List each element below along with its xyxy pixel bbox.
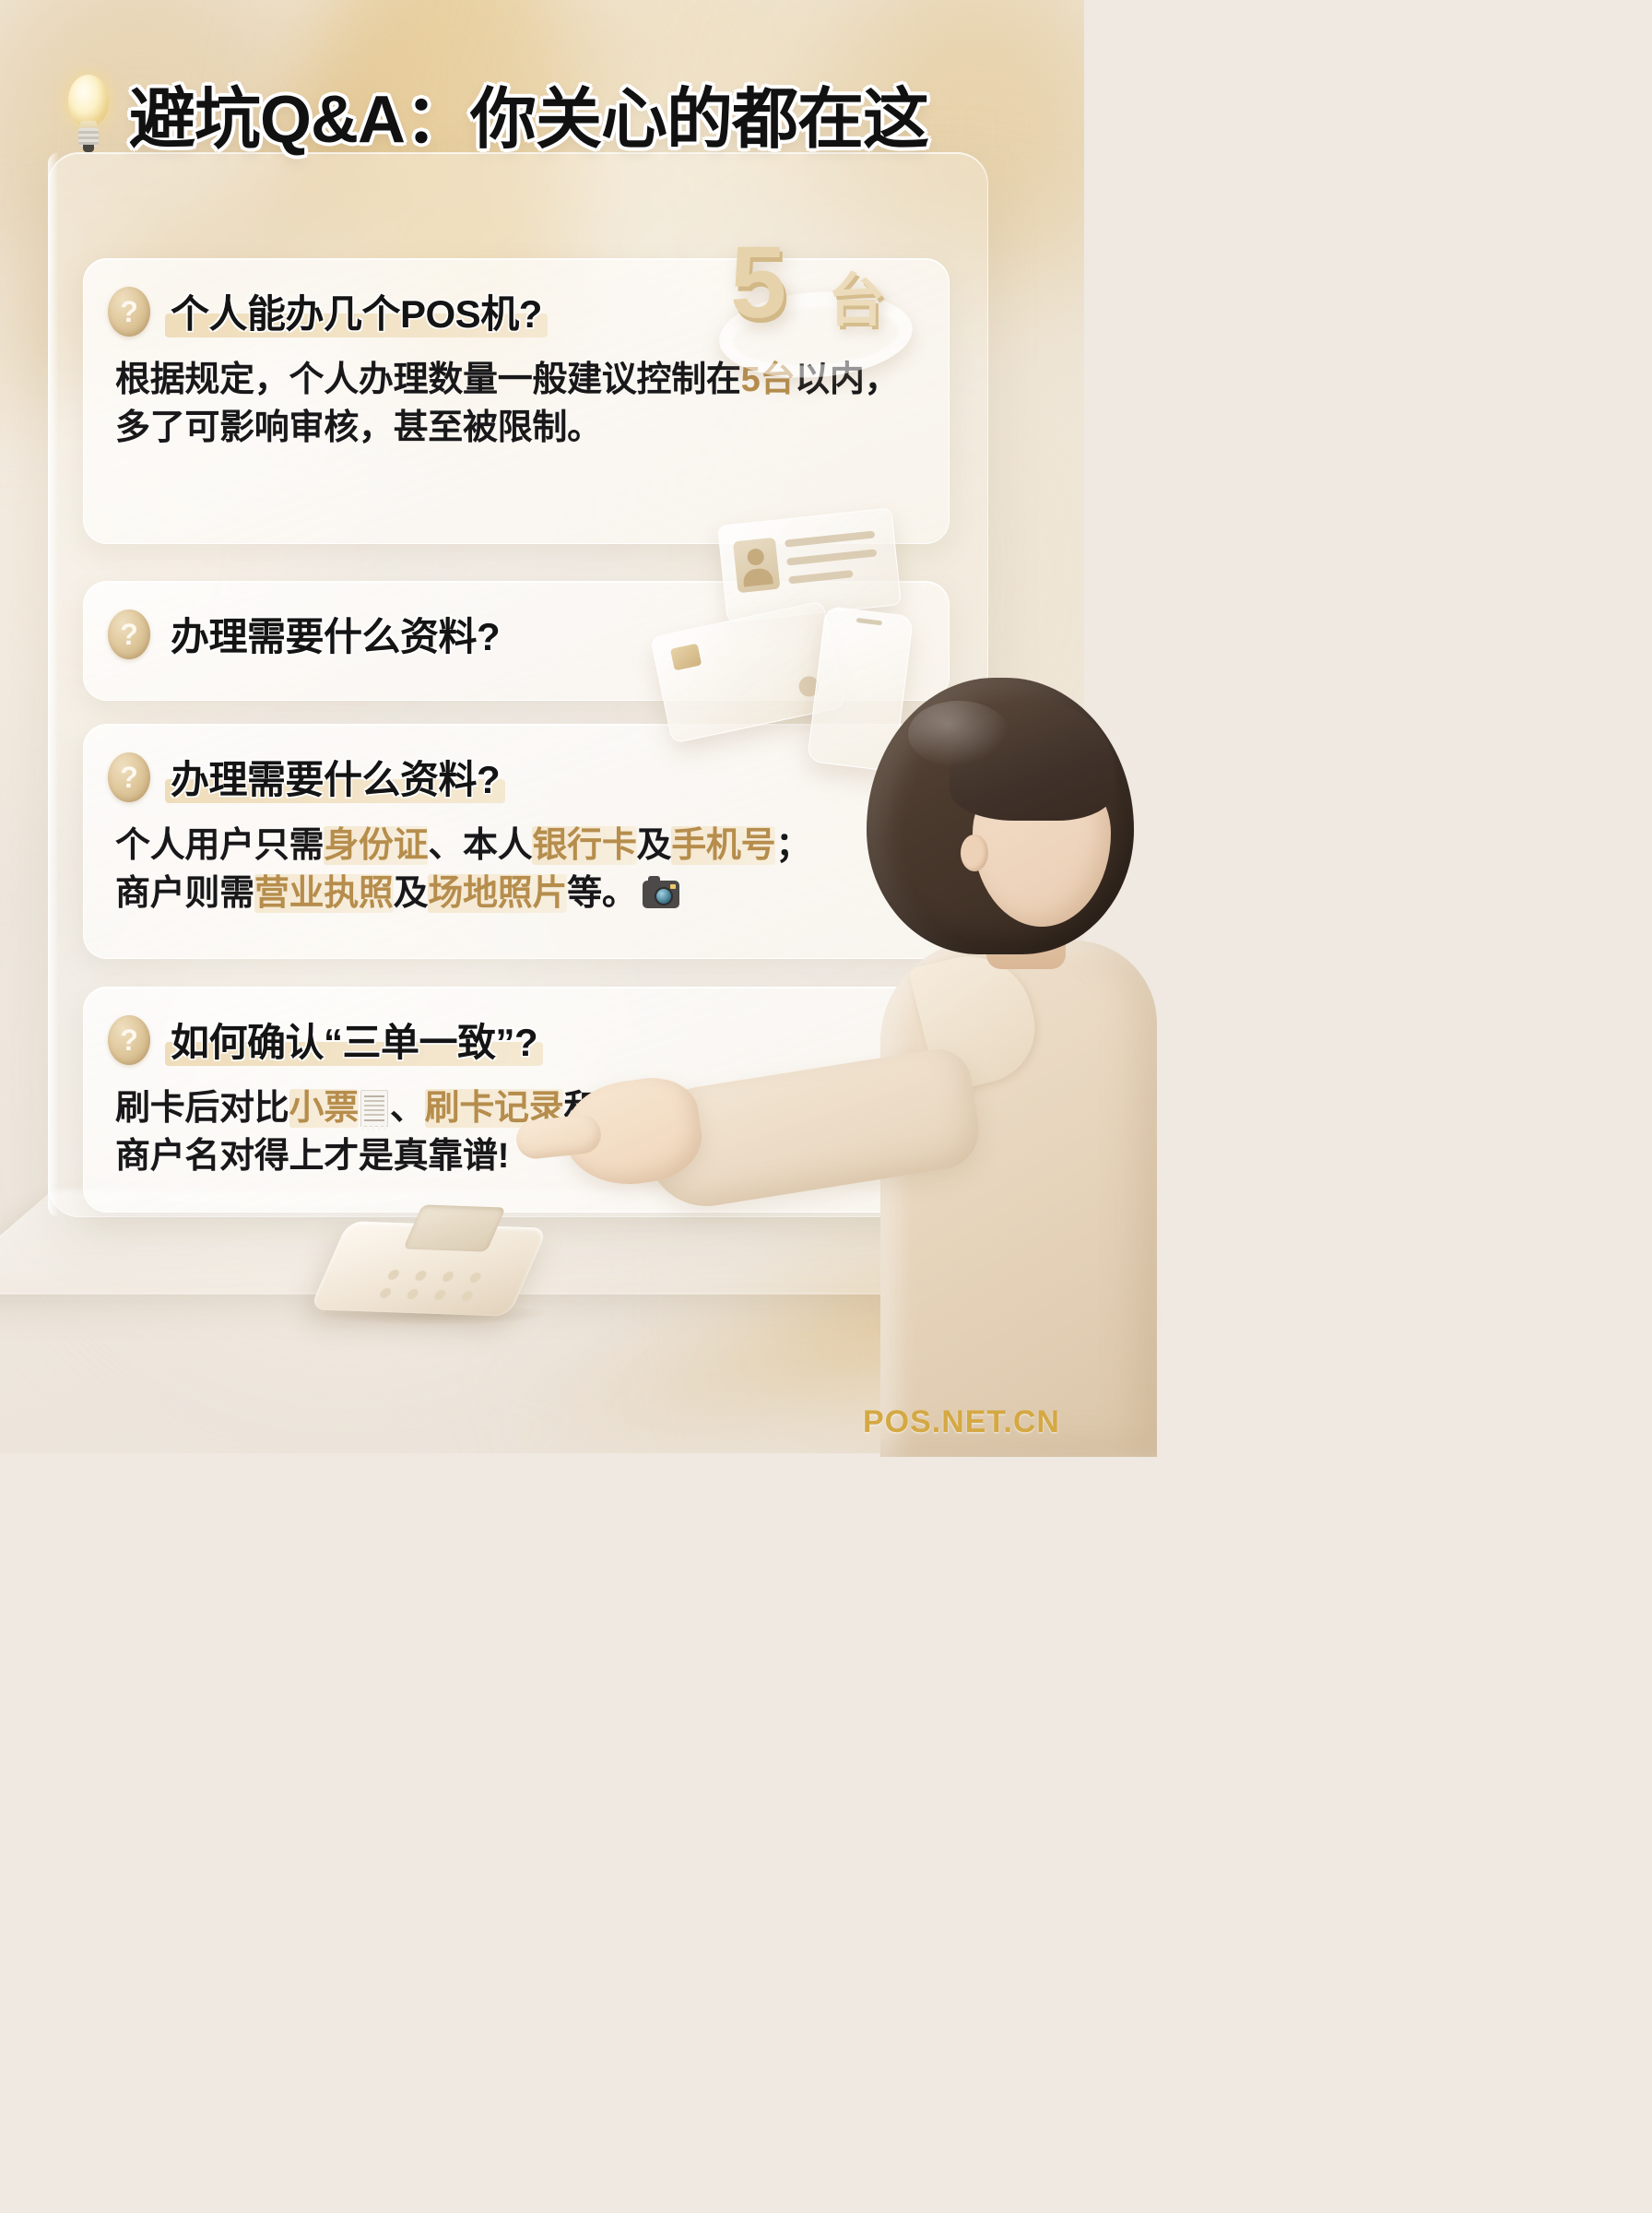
qa-card[interactable]: ? 办理需要什么资料? <box>83 581 950 701</box>
answer-segment: 等。 <box>567 874 636 913</box>
answer-text: 刷卡后对比小票、刷卡记录和银行流水，商户名对得上才是真靠谱! <box>115 1084 921 1181</box>
answer-highlight: 身份证 <box>324 826 428 865</box>
answer-segment: 商户则需 <box>115 874 254 913</box>
answer-segment: 及 <box>394 874 429 913</box>
answer-text: 个人用户只需身份证、本人银行卡及手机号；商户则需营业执照及场地照片等。 <box>115 822 921 918</box>
answer-segment: 商户名对得上才是真靠谱! <box>115 1137 509 1176</box>
question-text: 办理需要什么资料? <box>165 606 505 662</box>
answer-segment: 刷卡后对比 <box>115 1089 289 1128</box>
answer-segment: 根据规定，个人办理数量一般建议控制在 <box>115 361 741 399</box>
answer-segment: 和 <box>563 1089 598 1128</box>
question-text: 办理需要什么资料? <box>165 749 505 805</box>
answer-highlight: 营业执照 <box>254 874 394 913</box>
answer-highlight: 小票 <box>289 1089 359 1128</box>
glass-panel-left-edge <box>48 152 59 1217</box>
qa-card[interactable]: ? 个人能办几个POS机? 根据规定，个人办理数量一般建议控制在5台以内，多了可… <box>83 258 950 544</box>
answer-highlight: 5台 <box>741 361 796 399</box>
answer-highlight: 刷卡记录 <box>425 1089 564 1128</box>
question-row: ? 如何确认“三单一致”? <box>108 1012 921 1068</box>
lightbulb-icon <box>63 75 114 152</box>
question-row: ? 办理需要什么资料? <box>108 749 921 805</box>
receipt-icon <box>360 1090 388 1127</box>
question-text: 如何确认“三单一致”? <box>165 1012 543 1068</box>
question-row: ? 个人能办几个POS机? <box>108 283 921 339</box>
answer-segment: 个人用户只需 <box>115 826 324 865</box>
question-row: ? 办理需要什么资料? <box>108 606 921 662</box>
answer-segment: ； <box>775 826 810 865</box>
answer-text: 根据规定，个人办理数量一般建议控制在5台以内，多了可影响审核，甚至被限制。 <box>115 356 921 453</box>
question-mark-icon: ? <box>108 752 150 802</box>
page-title: 避坑Q&A：你关心的都在这 <box>129 65 928 161</box>
qa-card[interactable]: ? 如何确认“三单一致”? 刷卡后对比小票、刷卡记录和银行流水，商户名对得上才是… <box>83 987 950 1213</box>
qa-card[interactable]: ? 办理需要什么资料? 个人用户只需身份证、本人银行卡及手机号；商户则需营业执照… <box>83 724 950 959</box>
camera-icon <box>643 881 679 908</box>
answer-highlight: 场地照片 <box>428 874 567 913</box>
question-mark-icon: ? <box>108 609 150 659</box>
watermark: POS.NET.CN <box>863 1404 1060 1440</box>
answer-highlight: 银行流水 <box>598 1089 737 1128</box>
answer-segment: 、本人 <box>428 826 532 865</box>
question-mark-icon: ? <box>108 1015 150 1065</box>
answer-highlight: 手机号 <box>671 826 775 865</box>
page-title-row: 避坑Q&A：你关心的都在这 <box>63 65 928 161</box>
question-mark-icon: ? <box>108 287 150 337</box>
answer-highlight: 银行卡 <box>532 826 636 865</box>
answer-segment: 、 <box>390 1089 425 1128</box>
question-text: 个人能办几个POS机? <box>165 283 548 339</box>
answer-segment: 及 <box>637 826 672 865</box>
answer-segment: ， <box>737 1089 773 1128</box>
